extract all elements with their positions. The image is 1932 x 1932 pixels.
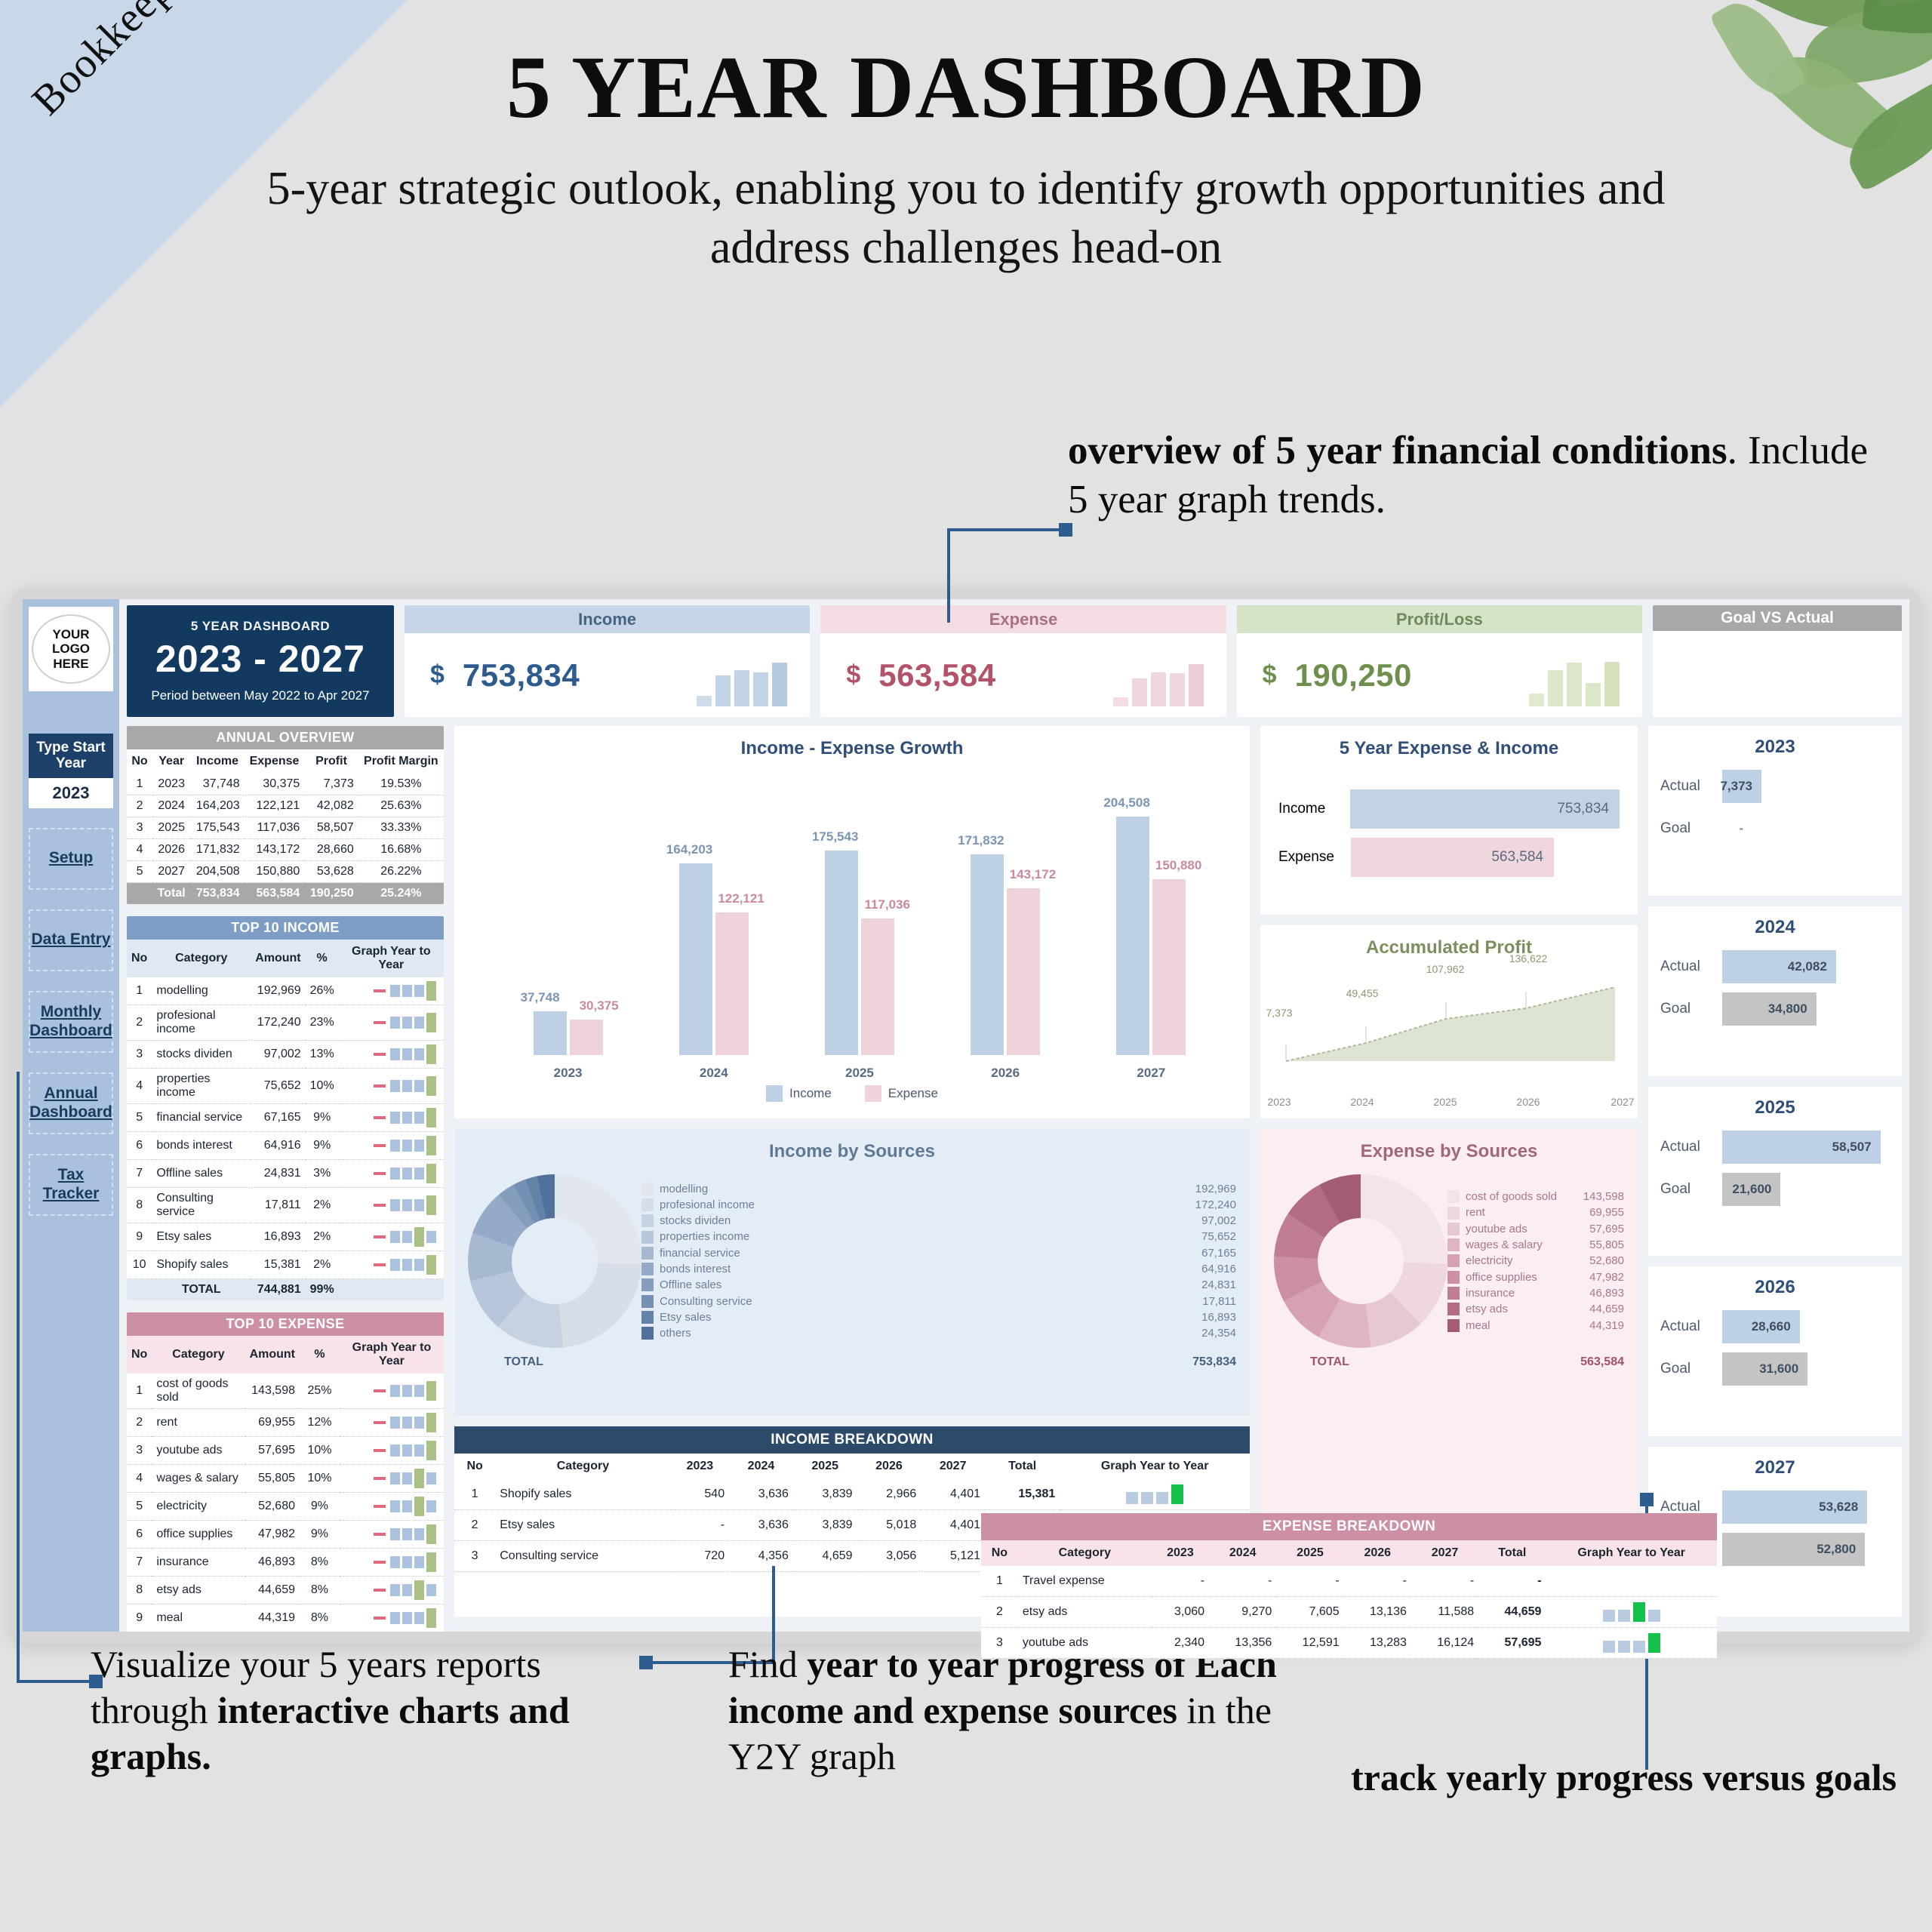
col-income: Income <box>190 749 244 774</box>
table-row: 1202337,74830,3757,37319.53% <box>127 774 444 795</box>
annual-overview-table: ANNUAL OVERVIEW No Year Income Expense P… <box>127 726 444 904</box>
kpi-card-income: Income $ 753,834 <box>405 605 810 717</box>
goal-row-label: Actual <box>1660 1318 1722 1335</box>
bar-expense <box>1007 888 1040 1055</box>
goal-vs-actual-column: 2023Actual7,373Goal-2024Actual42,082Goal… <box>1648 726 1902 1617</box>
table-cell: - <box>1411 1566 1478 1597</box>
table-cell: 1 <box>981 1566 1018 1597</box>
table-cell: - <box>671 1510 729 1541</box>
bar-label-expense: 117,036 <box>864 897 910 912</box>
table-row: 42026171,832143,17228,66016.68% <box>127 839 444 861</box>
table-cell: 9 <box>127 1604 152 1632</box>
legend-expense: Expense <box>865 1085 938 1102</box>
table-cell: 8% <box>300 1549 340 1577</box>
table-cell: 2 <box>127 1005 152 1041</box>
table-cell: Offline sales <box>152 1160 251 1188</box>
table-header-row: No Year Income Expense Profit Profit Mar… <box>127 749 444 774</box>
table-cell: 44,319 <box>245 1604 300 1632</box>
period-years: 2023 - 2027 <box>155 637 365 681</box>
bar-group: 37,74830,3752023 <box>527 1011 610 1055</box>
legend-label: wages & salary <box>1466 1237 1583 1253</box>
start-year-input[interactable]: 2023 <box>29 778 113 808</box>
legend-value: 64,916 <box>1201 1261 1236 1277</box>
x-axis-label: 2026 <box>1516 1096 1540 1108</box>
table-cell: 164,203 <box>190 795 244 817</box>
expense-breakdown-title: EXPENSE BREAKDOWN <box>981 1513 1717 1540</box>
goal-actual-bar: 53,628 <box>1722 1491 1867 1524</box>
table-row: 8etsy ads44,6598% <box>127 1577 444 1604</box>
table-cell: 16.68% <box>358 839 444 861</box>
kpi-income-currency: $ <box>430 660 445 690</box>
expense-breakdown-body: 1Travel expense------2etsy ads3,0609,270… <box>981 1566 1717 1659</box>
legend-value: 16,893 <box>1201 1309 1236 1325</box>
table-cell: 2% <box>306 1223 339 1251</box>
legend-label: office supplies <box>1466 1269 1583 1285</box>
table-total-row: Total753,834563,584190,25025.24% <box>127 883 444 905</box>
legend-swatch <box>1447 1271 1460 1284</box>
period-range: Period between May 2022 to Apr 2027 <box>151 688 369 703</box>
legend-swatch <box>641 1231 654 1244</box>
goal-row-label: Goal <box>1660 820 1722 837</box>
legend-swatch <box>1447 1303 1460 1315</box>
table-cell: 24,831 <box>251 1160 305 1188</box>
table-cell: 69,955 <box>245 1409 300 1437</box>
legend-label: etsy ads <box>1466 1301 1583 1317</box>
goal-target-bar: 52,800 <box>1722 1533 1865 1566</box>
col-percent: % <box>300 1336 340 1374</box>
table-cell: 52,680 <box>245 1493 300 1521</box>
table-row: 1Shopify sales5403,6363,8392,9664,40115,… <box>454 1479 1250 1510</box>
kpi-profit-value: 190,250 <box>1295 657 1412 694</box>
table-cell: 25% <box>300 1374 340 1409</box>
legend-item: electricity52,680 <box>1447 1253 1624 1269</box>
table-cell: 75,652 <box>251 1069 305 1104</box>
table-cell: 10% <box>300 1465 340 1493</box>
col-category: Category <box>152 1336 245 1374</box>
table-cell: 2 <box>454 1510 495 1541</box>
expense-total-value: 563,584 <box>1580 1355 1624 1369</box>
table-row: 5financial service67,1659% <box>127 1104 444 1132</box>
col-total: Total <box>985 1454 1060 1479</box>
goal-row-label: Actual <box>1660 1139 1722 1155</box>
dashboard-content: ANNUAL OVERVIEW No Year Income Expense P… <box>127 726 1902 1617</box>
income-breakdown-title: INCOME BREAKDOWN <box>454 1426 1250 1454</box>
five-year-expense-row: Expense 563,584 <box>1278 838 1620 877</box>
five-year-expense-label: Expense <box>1278 849 1351 866</box>
col-graph-y2y: Graph Year to Year <box>339 940 444 977</box>
bar-group: 171,832143,1722026 <box>964 854 1047 1055</box>
table-cell: 6 <box>127 1521 152 1549</box>
table-row: 32025175,543117,03658,50733.33% <box>127 817 444 839</box>
top-income-title: TOP 10 INCOME <box>127 916 444 940</box>
table-cell: 2% <box>306 1251 339 1279</box>
col-amount: Amount <box>251 940 305 977</box>
table-cell: 2,966 <box>857 1479 921 1510</box>
top-expense-title: TOP 10 EXPENSE <box>127 1312 444 1336</box>
col-amount: Amount <box>245 1336 300 1374</box>
table-cell: 16,124 <box>1411 1628 1478 1659</box>
legend-label: profesional income <box>660 1197 1189 1213</box>
table-cell: 10 <box>127 1251 152 1279</box>
table-row: 4properties income75,65210% <box>127 1069 444 1104</box>
legend-item: profesional income172,240 <box>641 1197 1236 1213</box>
five-year-income-bar: 753,834 <box>1350 789 1620 829</box>
callout-visualize: Visualize your 5 years reports through i… <box>91 1641 619 1780</box>
bar-label-income: 164,203 <box>666 842 712 857</box>
accumulated-profit-chart: Accumulated Profit 7,37349,455107,962136… <box>1260 925 1638 1118</box>
expense-total-label: TOTAL <box>1310 1355 1349 1369</box>
y2y-sparkline <box>340 1577 444 1604</box>
x-axis-label: 2024 <box>672 1066 755 1081</box>
col-2027: 2027 <box>1411 1540 1478 1566</box>
table-row: 1modelling192,96926% <box>127 977 444 1005</box>
goal-card: 2024Actual42,082Goal34,800 <box>1648 906 1902 1076</box>
table-cell: 26.22% <box>358 861 444 883</box>
legend-label: financial service <box>660 1245 1195 1261</box>
table-cell: 175,543 <box>190 817 244 839</box>
legend-swatch <box>641 1183 654 1195</box>
five-year-income-row: Income 753,834 <box>1278 789 1620 829</box>
y2y-sparkline <box>340 1437 444 1465</box>
bar-label-expense: 150,880 <box>1155 858 1201 873</box>
table-cell: electricity <box>152 1493 245 1521</box>
table-cell: 19.53% <box>358 774 444 795</box>
five-year-income-label: Income <box>1278 801 1350 817</box>
callout-goals-bold: track yearly progress versus goals <box>1351 1756 1897 1798</box>
legend-swatch <box>1447 1254 1460 1267</box>
table-cell: 9% <box>300 1493 340 1521</box>
legend-item: etsy ads44,659 <box>1447 1301 1624 1317</box>
table-cell: profesional income <box>152 1005 251 1041</box>
legend-swatch <box>641 1263 654 1275</box>
table-cell: Consulting service <box>152 1188 251 1223</box>
income-donut-legend: modelling192,969profesional income172,24… <box>641 1181 1236 1342</box>
total-cell <box>127 883 152 905</box>
callout-y2y: Find year to year progress of Each incom… <box>728 1641 1279 1780</box>
table-cell: 15,381 <box>251 1251 305 1279</box>
table-row: 8Consulting service17,8112% <box>127 1188 444 1223</box>
legend-value: 44,319 <box>1589 1318 1624 1334</box>
x-axis-label: 2023 <box>1267 1096 1291 1108</box>
top-income-table: TOP 10 INCOME No Category Amount % Graph… <box>127 916 444 1300</box>
x-axis-label: 2025 <box>1433 1096 1457 1108</box>
legend-value: 24,831 <box>1201 1277 1236 1293</box>
goal-actual-bar: 7,373 <box>1722 770 1761 803</box>
legend-label: modelling <box>660 1181 1189 1197</box>
table-row: 52027204,508150,88053,62826.22% <box>127 861 444 883</box>
legend-label: bonds interest <box>660 1261 1195 1277</box>
x-axis-label: 2024 <box>1350 1096 1374 1108</box>
kpi-profit-currency: $ <box>1263 660 1277 690</box>
legend-swatch <box>1447 1287 1460 1300</box>
income-donut-total: TOTAL 753,834 <box>454 1348 1250 1369</box>
table-cell: 26% <box>306 977 339 1005</box>
sidebar-item-data-entry[interactable]: Data Entry <box>29 909 113 971</box>
goal-target-bar: 21,600 <box>1722 1173 1780 1206</box>
goal-row-label: Goal <box>1660 1001 1722 1017</box>
center-charts-column: Income - Expense Growth 37,74830,3752023… <box>454 726 1250 1617</box>
table-cell: 6 <box>127 1132 152 1160</box>
profit-sparkline-icon <box>1529 648 1620 706</box>
table-cell: Travel expense <box>1018 1566 1152 1597</box>
table-header-row: No Category Amount % Graph Year to Year <box>127 1336 444 1374</box>
area-point-label: 136,622 <box>1509 952 1548 964</box>
table-cell: 1 <box>454 1479 495 1510</box>
area-point-label: 7,373 <box>1266 1007 1292 1019</box>
table-cell: 2 <box>127 1409 152 1437</box>
col-2027: 2027 <box>921 1454 985 1479</box>
x-axis-label: 2025 <box>818 1066 901 1081</box>
table-cell: financial service <box>152 1104 251 1132</box>
table-cell: 9,270 <box>1209 1597 1276 1628</box>
legend-value: 97,002 <box>1201 1213 1236 1229</box>
col-2025: 2025 <box>1276 1540 1343 1566</box>
table-cell: 3 <box>127 1041 152 1069</box>
start-year-control[interactable]: Type Start Year 2023 <box>29 734 113 808</box>
table-row: 3stocks dividen97,00213% <box>127 1041 444 1069</box>
left-tables-column: ANNUAL OVERVIEW No Year Income Expense P… <box>127 726 444 1617</box>
table-cell: 3,636 <box>729 1479 793 1510</box>
legend-label: stocks dividen <box>660 1213 1195 1229</box>
goal-card-year: 2025 <box>1660 1097 1890 1118</box>
table-cell: 9% <box>306 1104 339 1132</box>
col-graph-y2y: Graph Year to Year <box>340 1336 444 1374</box>
bar-label-expense: 143,172 <box>1010 867 1056 882</box>
legend-item: modelling192,969 <box>641 1181 1236 1197</box>
table-cell: 13,283 <box>1344 1628 1411 1659</box>
goal-row: Actual28,660 <box>1660 1310 1890 1343</box>
table-row: 3youtube ads2,34013,35612,59113,28316,12… <box>981 1628 1717 1659</box>
legend-swatch <box>641 1295 654 1308</box>
total-cell: 44,659 <box>1478 1597 1546 1628</box>
y2y-sparkline <box>339 1041 444 1069</box>
table-row: 22024164,203122,12142,08225.63% <box>127 795 444 817</box>
callout-overview-bold: overview of 5 year financial conditions <box>1068 429 1727 472</box>
col-category: Category <box>1018 1540 1152 1566</box>
goal-row: Goal31,600 <box>1660 1352 1890 1386</box>
table-row: 1cost of goods sold143,59825% <box>127 1374 444 1409</box>
table-row: 4wages & salary55,80510% <box>127 1465 444 1493</box>
table-cell: 143,172 <box>245 839 305 861</box>
y2y-sparkline <box>339 1188 444 1223</box>
col-2024: 2024 <box>729 1454 793 1479</box>
table-cell: 67,165 <box>251 1104 305 1132</box>
legend-label: insurance <box>1466 1285 1583 1301</box>
col-graph-year-to-year: Graph Year to Year <box>1546 1540 1717 1566</box>
total-cell: 563,584 <box>245 883 305 905</box>
annual-overview-title: ANNUAL OVERVIEW <box>127 726 444 749</box>
table-cell: 33.33% <box>358 817 444 839</box>
table-cell: 3 <box>981 1628 1018 1659</box>
income-expense-growth-title: Income - Expense Growth <box>454 726 1250 759</box>
table-cell <box>339 1279 444 1301</box>
total-cell: Total <box>152 883 190 905</box>
bar-label-income: 37,748 <box>521 990 560 1005</box>
logo-text: YOUR LOGO HERE <box>32 614 110 684</box>
col-no: No <box>981 1540 1018 1566</box>
col-2023: 2023 <box>1152 1540 1209 1566</box>
table-row: 10Shopify sales15,3812% <box>127 1251 444 1279</box>
expense-donut-icon <box>1274 1174 1447 1348</box>
table-cell: modelling <box>152 977 251 1005</box>
goal-card: 2023Actual7,373Goal- <box>1648 726 1902 896</box>
table-cell: 12,591 <box>1276 1628 1343 1659</box>
legend-item: office supplies47,982 <box>1447 1269 1624 1285</box>
legend-item: bonds interest64,916 <box>641 1261 1236 1277</box>
legend-value: 67,165 <box>1201 1245 1236 1261</box>
goal-card: 2025Actual58,507Goal21,600 <box>1648 1087 1902 1257</box>
table-row: 2rent69,95512% <box>127 1409 444 1437</box>
sidebar-item-monthly-dashboard[interactable]: Monthly Dashboard <box>29 991 113 1053</box>
top-income-body: 1modelling192,96926%2profesional income1… <box>127 977 444 1300</box>
legend-value: 69,955 <box>1589 1204 1624 1220</box>
bar-income <box>1116 817 1149 1055</box>
legend-item: others24,354 <box>641 1325 1236 1341</box>
expense-sparkline-icon <box>1113 648 1204 706</box>
table-row: 6bonds interest64,9169% <box>127 1132 444 1160</box>
kpi-profit-title: Profit/Loss <box>1237 605 1642 633</box>
growth-legend: Income Expense <box>454 1085 1250 1102</box>
table-cell: 171,832 <box>190 839 244 861</box>
table-cell: 47,982 <box>245 1521 300 1549</box>
table-cell: rent <box>152 1409 245 1437</box>
bar-expense <box>715 912 749 1055</box>
legend-value: 24,354 <box>1201 1325 1236 1341</box>
five-year-title: 5 Year Expense & Income <box>1260 726 1638 759</box>
table-cell: stocks dividen <box>152 1041 251 1069</box>
table-cell: Etsy sales <box>495 1510 670 1541</box>
total-cell: 753,834 <box>190 883 244 905</box>
legend-income: Income <box>766 1085 832 1102</box>
table-cell: 5,018 <box>857 1510 921 1541</box>
table-cell: 4 <box>127 1465 152 1493</box>
table-cell: 3,839 <box>793 1510 857 1541</box>
legend-value: 172,240 <box>1195 1197 1236 1213</box>
y2y-sparkline <box>340 1604 444 1632</box>
y2y-sparkline <box>339 1251 444 1279</box>
y2y-sparkline <box>1546 1628 1717 1659</box>
goal-vs-actual-title: Goal VS Actual <box>1653 605 1902 631</box>
table-cell: 1 <box>127 774 152 795</box>
col-2023: 2023 <box>671 1454 729 1479</box>
goal-row: Goal21,600 <box>1660 1173 1890 1206</box>
table-cell: Shopify sales <box>495 1479 670 1510</box>
income-sparkline-icon <box>697 648 787 706</box>
legend-item: properties income75,652 <box>641 1229 1236 1244</box>
y2y-sparkline <box>340 1549 444 1577</box>
table-cell: 2 <box>127 795 152 817</box>
table-cell: 143,598 <box>245 1374 300 1409</box>
area-point-label: 107,962 <box>1426 963 1465 975</box>
table-cell: properties income <box>152 1069 251 1104</box>
bar-label-income: 175,543 <box>812 829 858 844</box>
goal-vs-actual-header-card: Goal VS Actual <box>1653 605 1902 717</box>
expense-breakdown-table: EXPENSE BREAKDOWN NoCategory202320242025… <box>981 1513 1717 1659</box>
legend-swatch <box>641 1214 654 1227</box>
income-donut-icon <box>468 1174 641 1348</box>
connector-visualize <box>17 1072 107 1698</box>
five-year-expense-bar: 563,584 <box>1351 838 1554 877</box>
table-cell: 42,082 <box>304 795 358 817</box>
legend-item: Offline sales24,831 <box>641 1277 1236 1293</box>
table-cell: insurance <box>152 1549 245 1577</box>
bar-income <box>679 863 712 1055</box>
table-cell: 2024 <box>152 795 190 817</box>
total-cell: 25.24% <box>358 883 444 905</box>
table-cell: 172,240 <box>251 1005 305 1041</box>
kpi-expense-value: 563,584 <box>878 657 995 694</box>
table-cell: 2026 <box>152 839 190 861</box>
legend-item: youtube ads57,695 <box>1447 1221 1624 1237</box>
logo-placeholder: YOUR LOGO HERE <box>29 607 113 691</box>
table-cell: 10% <box>300 1437 340 1465</box>
legend-item: cost of goods sold143,598 <box>1447 1189 1624 1204</box>
table-cell: 13,136 <box>1344 1597 1411 1628</box>
kpi-income-value: 753,834 <box>463 657 580 694</box>
table-cell: meal <box>152 1604 245 1632</box>
total-percent: 99% <box>306 1279 339 1301</box>
bar-label-income: 204,508 <box>1103 795 1149 811</box>
legend-swatch <box>1447 1319 1460 1332</box>
table-row: 2profesional income172,24023% <box>127 1005 444 1041</box>
callout-overview: overview of 5 year financial conditions.… <box>1068 426 1868 524</box>
goal-row-label: Actual <box>1660 958 1722 975</box>
table-cell: 3 <box>127 817 152 839</box>
goal-card: 2026Actual28,660Goal31,600 <box>1648 1266 1902 1436</box>
table-cell: 64,916 <box>251 1132 305 1160</box>
x-axis-label: 2027 <box>1109 1066 1192 1081</box>
table-cell: 55,805 <box>245 1465 300 1493</box>
goal-card-year: 2027 <box>1660 1457 1890 1478</box>
table-cell: 2% <box>306 1188 339 1223</box>
table-cell: 720 <box>671 1541 729 1572</box>
y2y-sparkline <box>339 1104 444 1132</box>
legend-value: 44,659 <box>1589 1301 1624 1317</box>
table-cell: 4 <box>127 1069 152 1104</box>
table-cell: 28,660 <box>304 839 358 861</box>
table-cell: 23% <box>306 1005 339 1041</box>
goal-target-bar: 34,800 <box>1722 992 1817 1026</box>
table-cell: 7,373 <box>304 774 358 795</box>
goal-actual-bar: 58,507 <box>1722 1131 1881 1164</box>
table-cell: 7 <box>127 1160 152 1188</box>
legend-value: 52,680 <box>1589 1253 1624 1269</box>
table-cell: office supplies <box>152 1521 245 1549</box>
x-axis-label: 2027 <box>1611 1096 1634 1108</box>
table-cell: Shopify sales <box>152 1251 251 1279</box>
legend-label: rent <box>1466 1204 1583 1220</box>
five-year-expense-income-chart: 5 Year Expense & Income Income 753,834 E… <box>1260 726 1638 915</box>
table-cell: 1 <box>127 1374 152 1409</box>
total-amount: 744,881 <box>251 1279 305 1301</box>
period-card-title: 5 YEAR DASHBOARD <box>191 619 330 634</box>
legend-value: 17,811 <box>1202 1294 1236 1309</box>
table-cell: bonds interest <box>152 1132 251 1160</box>
sidebar-item-setup[interactable]: Setup <box>29 828 113 890</box>
bar-expense <box>570 1020 603 1055</box>
kpi-card-profit: Profit/Loss $ 190,250 <box>1237 605 1642 717</box>
bar-label-expense: 30,375 <box>580 998 619 1014</box>
table-cell: 9% <box>306 1132 339 1160</box>
bar-expense <box>1152 879 1186 1055</box>
col-profit: Profit <box>304 749 358 774</box>
goal-target-bar: 31,600 <box>1722 1352 1807 1386</box>
table-header-row: NoCategory20232024202520262027TotalGraph… <box>981 1540 1717 1566</box>
table-header-row: No Category Amount % Graph Year to Year <box>127 940 444 977</box>
col-percent: % <box>306 940 339 977</box>
total-cell: 15,381 <box>985 1479 1060 1510</box>
goal-row: Goal- <box>1660 812 1890 845</box>
